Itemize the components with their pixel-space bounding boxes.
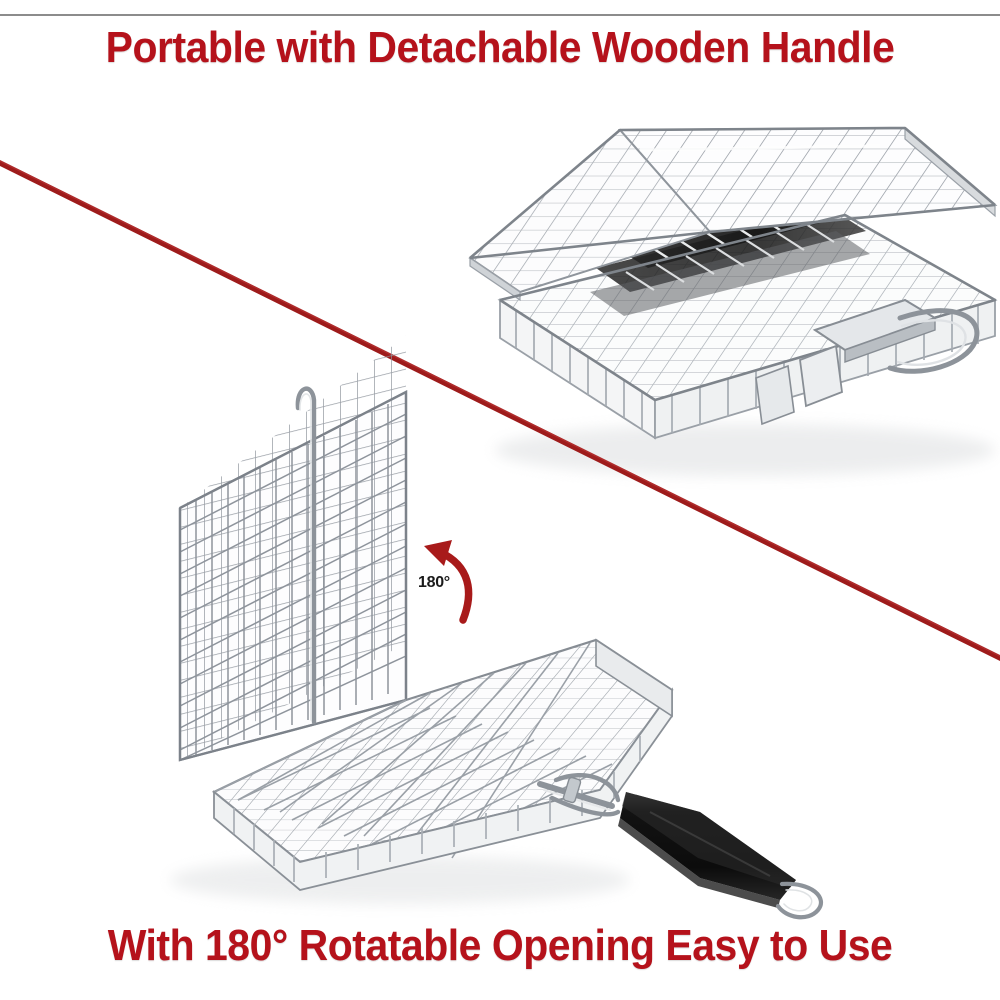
rotation-angle-label: 180° xyxy=(418,574,450,592)
product-infographic: Portable with Detachable Wooden Handle xyxy=(0,0,1000,1000)
closed-grill-basket xyxy=(470,128,995,476)
open-grill-basket xyxy=(170,336,821,918)
headline-bottom: With 180° Rotatable Opening Easy to Use xyxy=(35,920,965,972)
artwork-layer xyxy=(0,0,1000,1000)
upright-mesh-panel xyxy=(180,336,406,760)
wooden-handle xyxy=(618,792,821,917)
